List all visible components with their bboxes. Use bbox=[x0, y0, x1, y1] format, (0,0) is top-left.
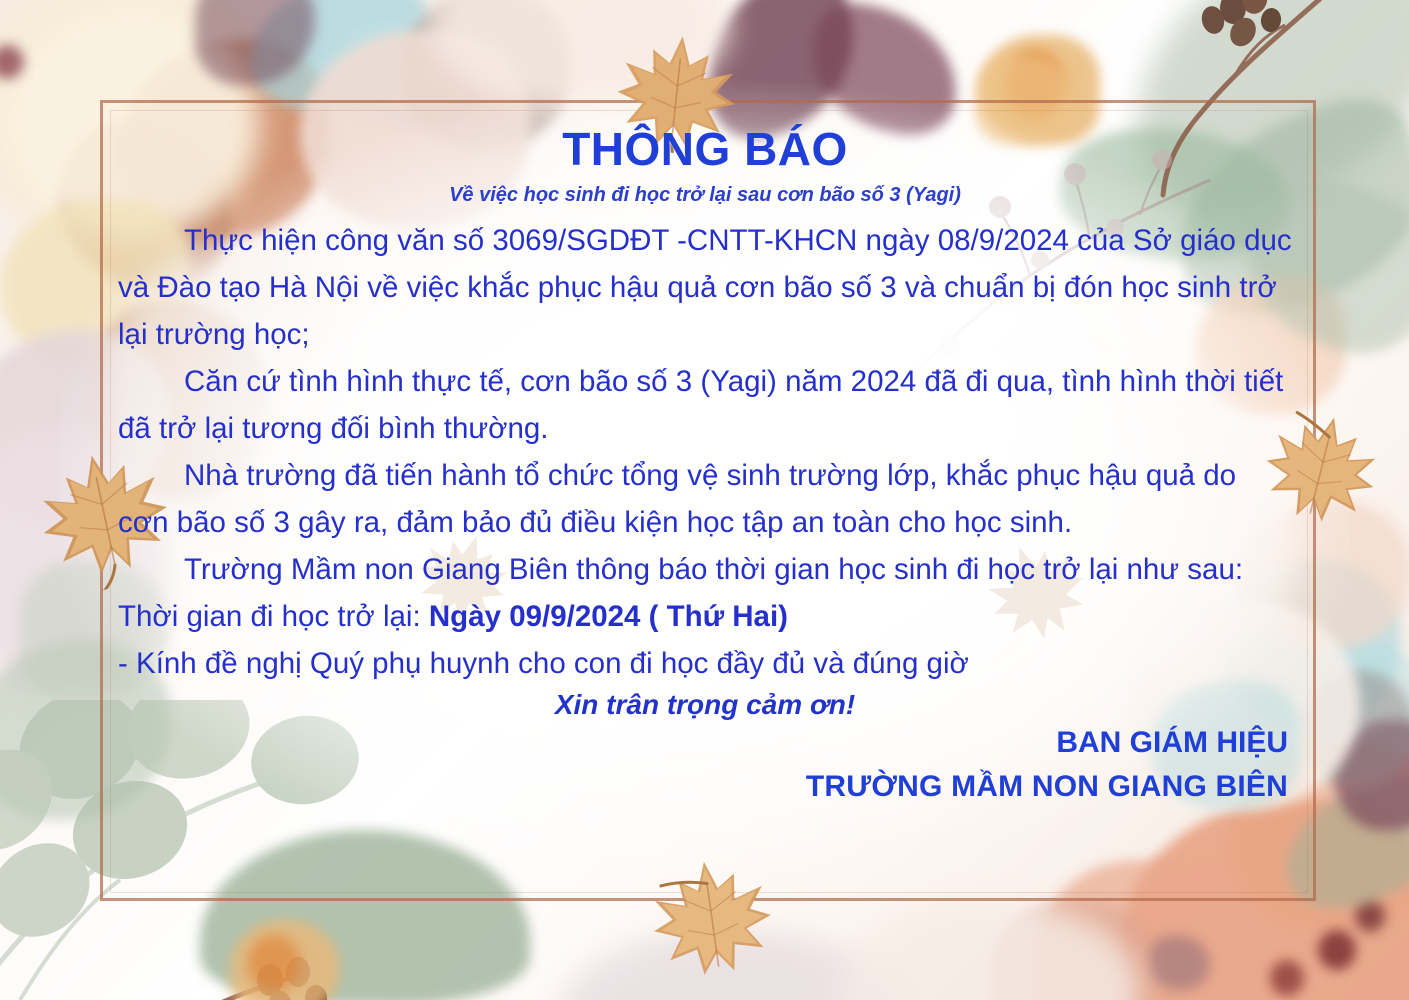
thanks-line: Xin trân trọng cảm ơn! bbox=[100, 689, 1310, 721]
signature-line-2: TRƯỜNG MẦM NON GIANG BIÊN bbox=[100, 765, 1288, 809]
notice-poster: THÔNG BÁO Về việc học sinh đi học trở lạ… bbox=[0, 0, 1409, 1000]
return-date-value: Ngày 09/9/2024 ( Thứ Hai) bbox=[429, 600, 788, 633]
signature-line-1: BAN GIÁM HIỆU bbox=[100, 721, 1288, 765]
request-line: - Kính đề nghị Quý phụ huynh cho con đi … bbox=[118, 640, 1292, 687]
page-subtitle: Về việc học sinh đi học trở lại sau cơn … bbox=[100, 184, 1310, 207]
bg-berry-maroon-br bbox=[1318, 930, 1356, 970]
bg-berry-maroon2-br bbox=[1270, 960, 1304, 996]
notice-body: Thực hiện công văn số 3069/SGDĐT -CNTT-K… bbox=[118, 217, 1292, 687]
paragraph-1: Thực hiện công văn số 3069/SGDĐT -CNTT-K… bbox=[118, 217, 1292, 358]
paragraph-3: Nhà trường đã tiến hành tổ chức tổng vệ … bbox=[118, 452, 1292, 546]
paragraph-schedule: Trường Mầm non Giang Biên thông báo thời… bbox=[118, 546, 1292, 640]
signature-block: BAN GIÁM HIỆU TRƯỜNG MẦM NON GIANG BIÊN bbox=[100, 721, 1288, 809]
page-title: THÔNG BÁO bbox=[100, 122, 1310, 176]
paragraph-2: Căn cứ tình hình thực tế, cơn bão số 3 (… bbox=[118, 358, 1292, 452]
notice-content: THÔNG BÁO Về việc học sinh đi học trở lạ… bbox=[100, 100, 1310, 895]
bg-flower-orange-bl bbox=[248, 935, 300, 991]
